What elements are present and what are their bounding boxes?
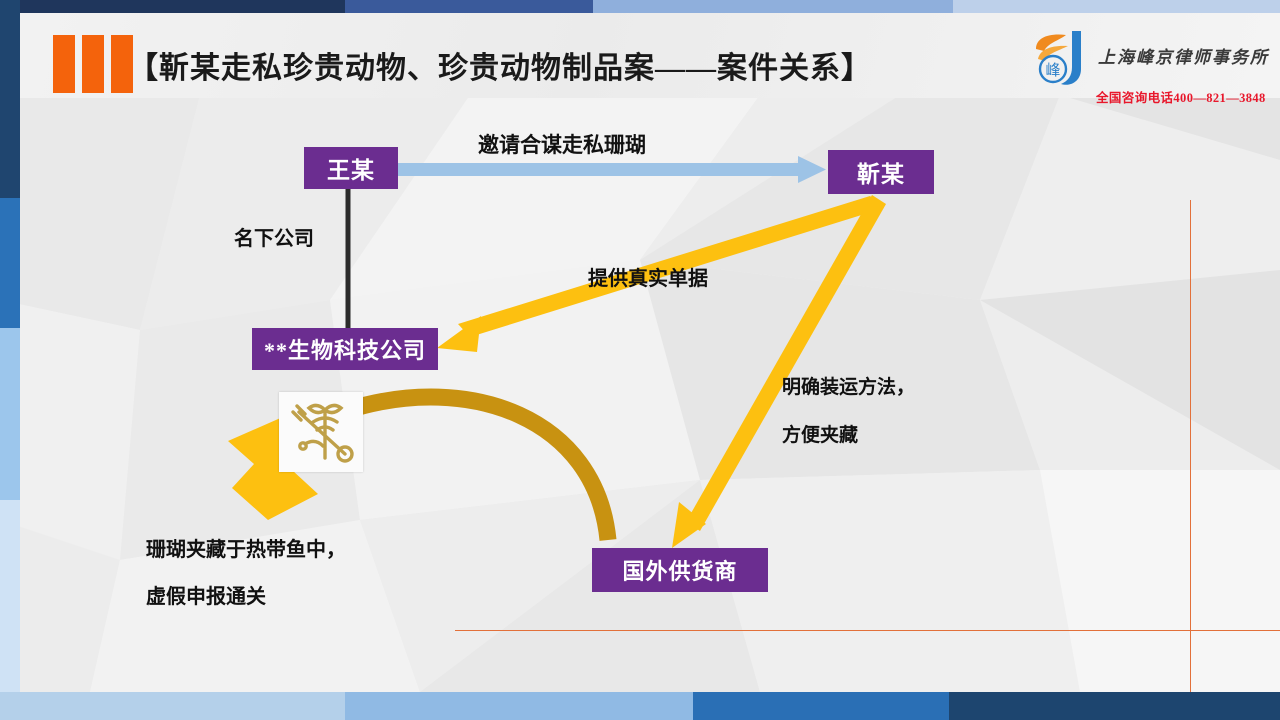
node-jin[interactable]: 靳某 [828,150,934,194]
edge-label-real-documents: 提供真实单据 [588,262,708,291]
node-wang[interactable]: 王某 [304,147,398,189]
relationship-diagram [0,0,1280,720]
edge-label-invite: 邀请合谋走私珊瑚 [478,129,646,159]
node-company-label: **生物科技公司 [264,333,426,365]
node-supplier-label: 国外供货商 [622,554,737,586]
presentation-slide: 【靳某走私珍贵动物、珍贵动物制品案——案件关系】 峰 上海峰京律师事务所 全国咨… [0,0,1280,720]
edge-label-shipping-line1: 明确装运方法， [782,372,915,399]
node-supplier[interactable]: 国外供货商 [592,548,768,592]
edge-label-shipping-line2: 方便夹藏 [782,420,858,447]
edge-wang-to-jin [398,156,826,183]
node-wang-label: 王某 [327,151,375,185]
node-jin-label: 靳某 [857,155,905,189]
customs-emblem-image [279,392,363,472]
edge-label-smuggle-line2: 虚假申报通关 [146,580,266,609]
edge-label-smuggle-line1: 珊瑚夹藏于热带鱼中， [146,533,346,562]
customs-key-caduceus-icon [279,392,363,472]
node-company[interactable]: **生物科技公司 [252,328,438,370]
edge-label-owned-company: 名下公司 [234,222,314,251]
edge-arc-supplier-to-customs [348,397,608,540]
